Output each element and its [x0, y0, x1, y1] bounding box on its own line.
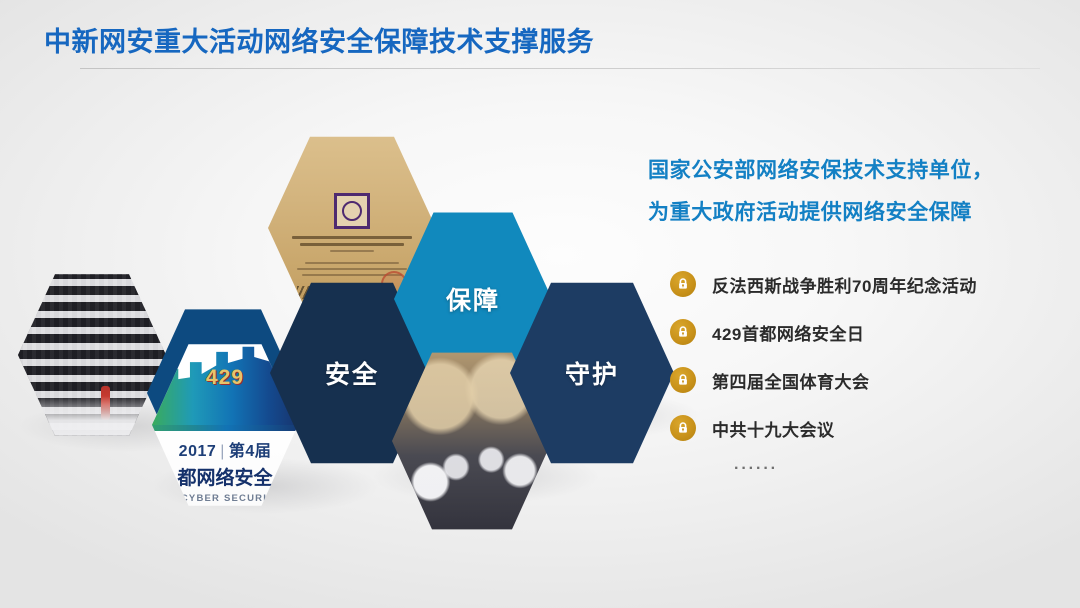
- title-divider: [80, 68, 1040, 69]
- hexagon-cluster: 可靠 429 2017|第4届 都网络安全 G CYBER SECURITY: [0, 100, 680, 540]
- logo429-cn-title: 都网络安全: [177, 463, 272, 490]
- cert-sub-line: [330, 250, 374, 252]
- ellipsis-row: ······: [670, 460, 1068, 478]
- cnnvd-emblem-icon: [334, 193, 370, 229]
- logo429-year-row: 2017|第4届: [179, 437, 272, 461]
- logo429-separator: |: [220, 443, 225, 460]
- slide-root: 中新网安重大活动网络安全保障技术支撑服务 可靠 429 2017|第4届 都网络…: [0, 0, 1080, 608]
- hex-label-shouhu: 守护: [565, 355, 619, 391]
- cnnvd-emblem-inner: [342, 201, 362, 221]
- lock-icon: [670, 415, 696, 441]
- logo429-year: 2017: [179, 443, 217, 460]
- cert-body-line: [305, 262, 399, 264]
- hex-label-anquan: 安全: [325, 355, 379, 391]
- list-item-label: 第四届全国体育大会: [712, 368, 870, 393]
- bullet-list: 反法西斯战争胜利70周年纪念活动 429首都网络安全日: [648, 260, 1068, 478]
- list-item-label: 中共十九大会议: [712, 416, 835, 441]
- headline-line-1: 国家公安部网络安保技术支持单位，: [648, 150, 1068, 192]
- list-item[interactable]: 反法西斯战争胜利70周年纪念活动: [670, 260, 1068, 308]
- logo429-en-title: G CYBER SECURITY: [168, 493, 281, 504]
- lock-icon: [670, 271, 696, 297]
- headline-line-2: 为重大政府活动提供网络安全保障: [648, 192, 1068, 234]
- list-item[interactable]: 第四届全国体育大会: [670, 356, 1068, 404]
- cert-title-line: [292, 236, 413, 239]
- logo429-edition: 第4届: [229, 443, 271, 460]
- hex-photo-servers[interactable]: [18, 270, 166, 440]
- cert-body-line: [297, 268, 408, 270]
- hex-label-baozhang: 保障: [446, 281, 500, 317]
- lock-icon: [670, 367, 696, 393]
- right-content-column: 国家公安部网络安保技术支持单位， 为重大政府活动提供网络安全保障 反法西斯战争胜…: [648, 150, 1068, 478]
- list-item-label: 429首都网络安全日: [712, 320, 864, 345]
- list-item[interactable]: 中共十九大会议: [670, 404, 1068, 452]
- cert-title-line: [300, 243, 404, 246]
- page-title: 中新网安重大活动网络安全保障技术支撑服务: [44, 20, 594, 59]
- lock-icon: [670, 319, 696, 345]
- list-item[interactable]: 429首都网络安全日: [670, 308, 1068, 356]
- list-item-label: 反法西斯战争胜利70周年纪念活动: [712, 272, 977, 297]
